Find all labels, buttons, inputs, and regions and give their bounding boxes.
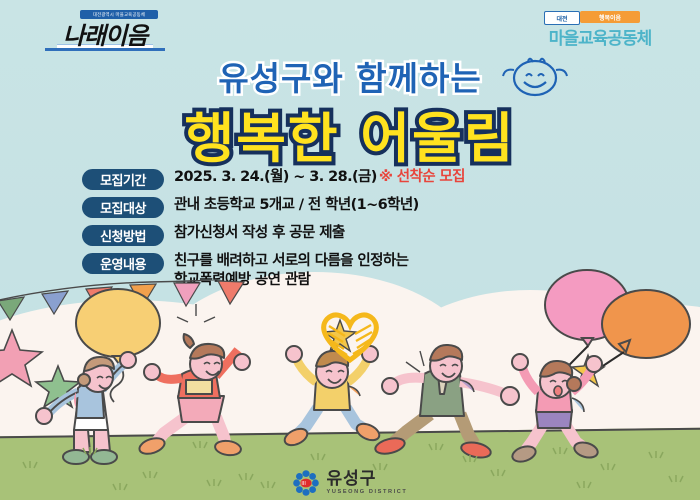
yuseong-emblem-icon: III (293, 470, 319, 496)
info-block: 모집기간 2025. 3. 24.(월) ~ 3. 28.(금)※ 선착순 모집… (82, 168, 682, 296)
ribbon2-text: 행복이음 (599, 13, 621, 22)
info-text: 참가신청서 작성 후 공문 제출 (174, 224, 345, 243)
info-row: 모집대상 관내 초등학교 5개교 / 전 학년(1~6학년) (82, 196, 682, 218)
info-note: ※ 선착순 모집 (379, 169, 465, 185)
footer-korean: 유성구 (327, 471, 408, 488)
info-badge-program: 운영내용 (82, 253, 164, 274)
footer-logo: III 유성구 YUSEONG DISTRICT (0, 466, 700, 500)
logo-left-wordmark: 나래이음 (35, 16, 175, 51)
title-line-1-text: 유성구와 함께하는 (218, 59, 481, 98)
info-text: 2025. 3. 24.(월) ~ 3. 28.(금)※ 선착순 모집 (174, 168, 465, 187)
info-value: 2025. 3. 24.(월) ~ 3. 28.(금) (174, 169, 377, 185)
logo-right-wordmark: 마을교육공동체 (520, 24, 680, 49)
footer-english: YUSEONG DISTRICT (327, 490, 408, 496)
title-line-1: 유성구와 함께하는 (0, 52, 700, 100)
ribbon1-text: 대전 (556, 14, 567, 23)
logo-right-ribbon-daejeon: 대전 (544, 11, 580, 25)
village-education-logo: 대전 행복이음 마을교육공동체 (520, 10, 680, 56)
info-row: 신청방법 참가신청서 작성 후 공문 제출 (82, 224, 682, 246)
info-badge-target: 모집대상 (82, 197, 164, 218)
info-row: 모집기간 2025. 3. 24.(월) ~ 3. 28.(금)※ 선착순 모집 (82, 168, 682, 190)
info-badge-recruit-period: 모집기간 (82, 169, 164, 190)
info-value: 참가신청서 작성 후 공문 제출 (174, 225, 345, 241)
smiley-face-icon (500, 52, 570, 100)
heart-icon (315, 308, 385, 363)
info-badge-apply-method: 신청방법 (82, 225, 164, 246)
narae-ieum-logo: 대전광역시 마을교육공동체 나래이음 (35, 8, 175, 56)
logo-right-ribbon-haengbok: 행복이음 (580, 11, 640, 23)
info-value: 친구를 배려하고 서로의 다름을 인정하는 (174, 253, 408, 269)
title-line-2: 행복한 어울림 (0, 94, 700, 173)
info-text: 관내 초등학교 5개교 / 전 학년(1~6학년) (174, 196, 419, 215)
info-value: 관내 초등학교 5개교 / 전 학년(1~6학년) (174, 197, 419, 213)
poster-canvas: 대전광역시 마을교육공동체 나래이음 대전 행복이음 마을교육공동체 유성구와 … (0, 0, 700, 500)
footer-text: 유성구 YUSEONG DISTRICT (327, 471, 408, 496)
bunting-flags-decoration (0, 280, 290, 330)
svg-text:III: III (301, 481, 305, 487)
title-line-2-text: 행복한 어울림 (185, 107, 516, 170)
